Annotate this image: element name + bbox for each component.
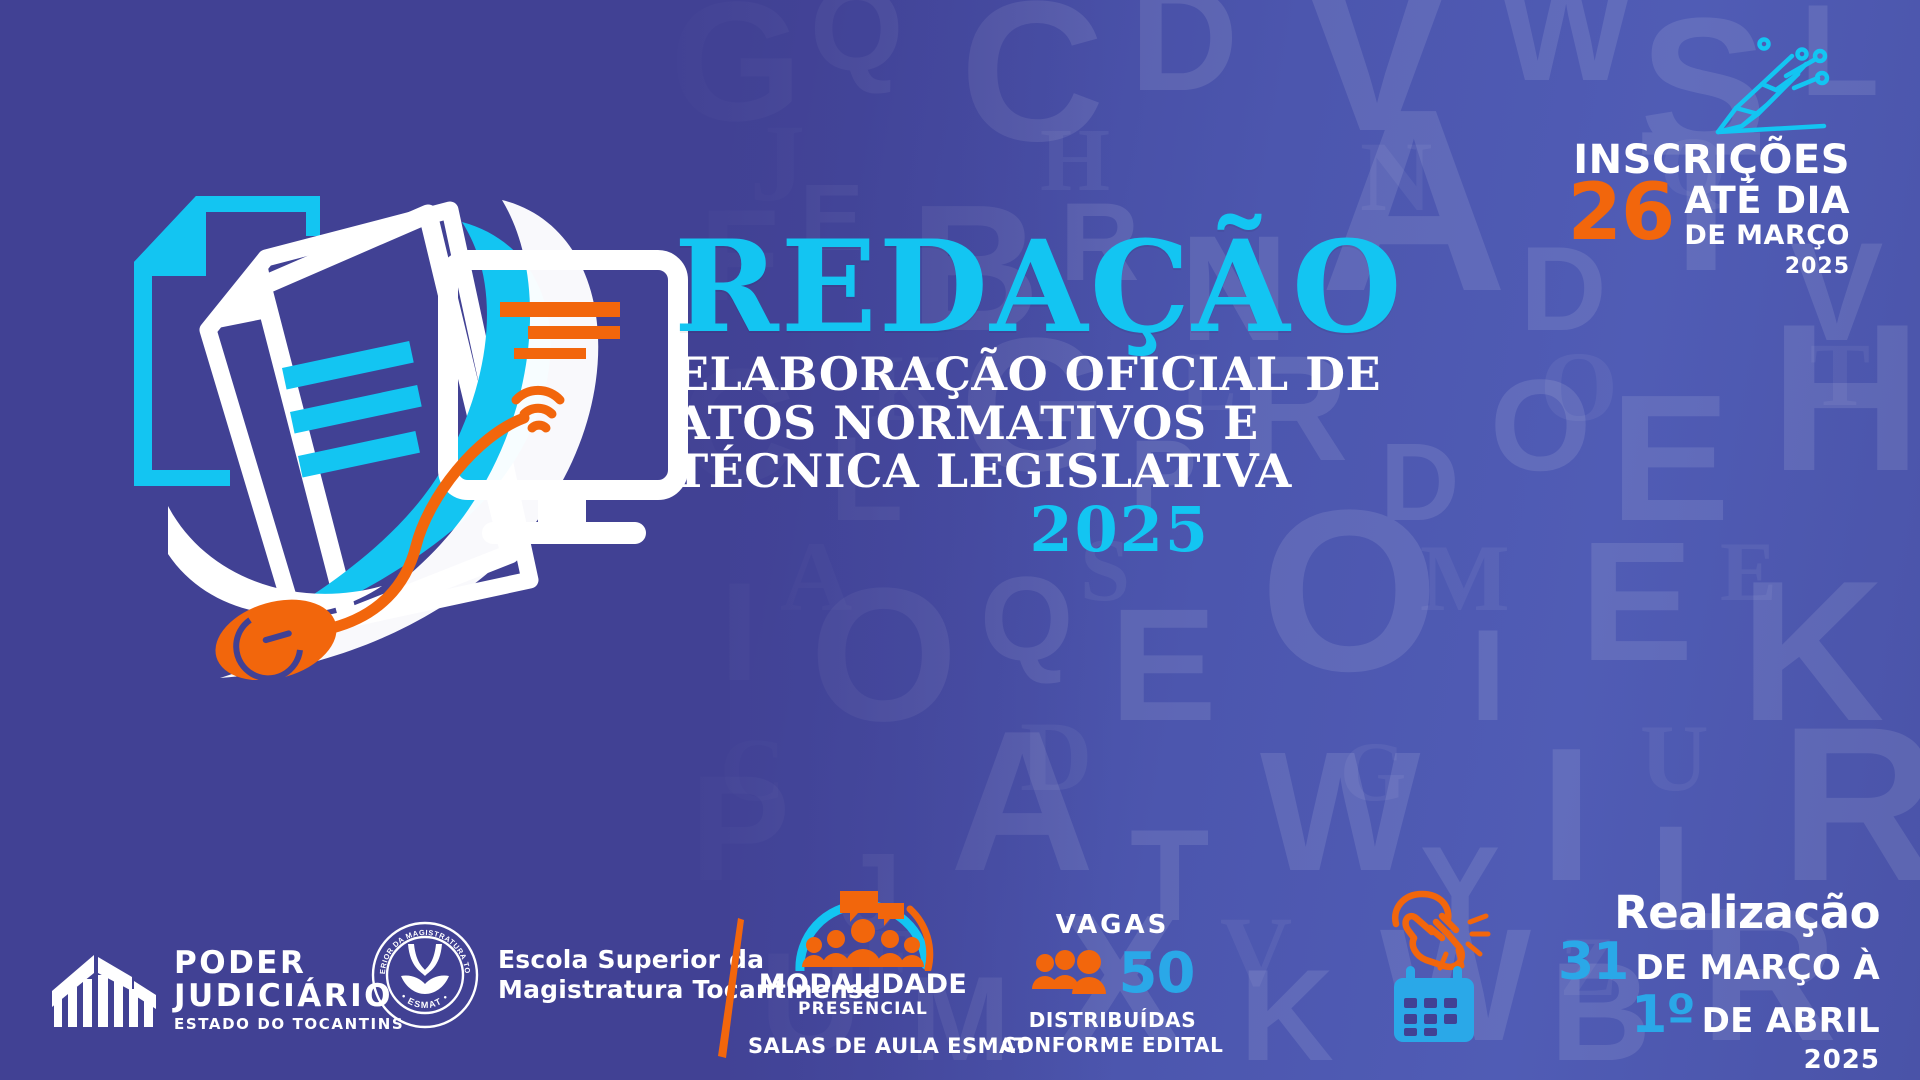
digital-pen-icon — [1706, 34, 1836, 144]
illustration-svg — [110, 150, 730, 680]
classroom-people-icon — [778, 879, 948, 971]
registration-year: 2025 — [1568, 256, 1850, 278]
cyan-document-icon — [134, 196, 320, 486]
seats-note: DISTRIBUÍDAS CONFORME EDITAL — [1000, 1008, 1225, 1058]
registration-date-row: 26 ATÉ DIA DE MARÇO — [1568, 182, 1850, 249]
speech-bubbles — [840, 891, 904, 926]
event-end-text: DE ABRIL — [1702, 1004, 1880, 1038]
svg-text:D: D — [1130, 0, 1238, 122]
event-start-text: DE MARÇO À — [1635, 951, 1880, 985]
svg-text:H: H — [1770, 280, 1920, 515]
event-dates-block: Realização 31 DE MARÇO À 1º DE ABRIL 202… — [1380, 890, 1880, 1060]
event-end-day: 1º — [1631, 989, 1695, 1041]
seats-count: 50 — [1119, 949, 1195, 999]
svg-text:E: E — [1610, 358, 1730, 559]
page-title: REDAÇÃO — [674, 230, 1220, 346]
svg-text:O: O — [1260, 462, 1439, 719]
registration-day: 26 — [1568, 182, 1675, 246]
svg-text:T: T — [1810, 326, 1870, 425]
documents-computer-illustration — [110, 150, 730, 680]
seats-heading: VAGAS — [1000, 912, 1225, 938]
event-start-row: 31 DE MARÇO À — [1510, 936, 1880, 988]
svg-text:O: O — [1490, 352, 1591, 498]
modality-line-1: MODALIDADE — [748, 971, 978, 998]
registration-date-text: ATÉ DIA DE MARÇO — [1684, 182, 1850, 249]
registration-month: DE MARÇO — [1684, 222, 1850, 249]
svg-text:C: C — [720, 721, 785, 820]
svg-text:C: C — [960, 0, 1104, 183]
esmat-seal-icon: ESCOLA SUPERIOR DA MAGISTRATURA TOCANTIN… — [370, 920, 480, 1030]
svg-text:M: M — [1420, 525, 1510, 631]
footer-bar: PODER JUDICIÁRIO ESTADO DO TOCANTINS ESC… — [0, 870, 1920, 1080]
title-year: 2025 — [660, 498, 1220, 562]
svg-text:H: H — [1040, 111, 1110, 210]
group-people-icon — [1031, 949, 1109, 999]
svg-text:Q: Q — [980, 552, 1073, 686]
modality-block: MODALIDADE PRESENCIAL SALAS DE AULA ESMA… — [748, 879, 978, 1058]
svg-text:O: O — [810, 549, 958, 761]
document-text-lines — [282, 341, 422, 478]
orange-slash-divider — [718, 918, 744, 1058]
seats-note-line-1: DISTRIBUÍDAS — [1000, 1008, 1225, 1033]
courthouse-building-icon — [50, 951, 158, 1029]
course-title-block: REDAÇÃO ELABORAÇÃO OFICIAL DE ATOS NORMA… — [660, 230, 1220, 563]
registration-until-label: ATÉ DIA — [1684, 182, 1850, 219]
svg-text:D: D — [1380, 421, 1459, 544]
modality-line-3: SALAS DE AULA ESMAT — [748, 1034, 978, 1058]
promo-banner: G Q C D V W S L F E B R N A D T V C L G — [0, 0, 1920, 1080]
svg-text:J: J — [750, 102, 805, 224]
svg-text:W: W — [1500, 0, 1632, 110]
modality-icon-wrap — [778, 879, 948, 971]
svg-text:I: I — [1470, 602, 1506, 748]
svg-text:V: V — [1300, 0, 1453, 179]
seats-count-row: 50 — [1000, 949, 1225, 999]
event-dates-text: Realização 31 DE MARÇO À 1º DE ABRIL 202… — [1510, 890, 1880, 1073]
subtitle-line-2: ATOS NORMATIVOS E — [674, 399, 1220, 448]
svg-text:U: U — [1640, 705, 1709, 811]
svg-text:E: E — [1580, 507, 1693, 697]
judiciary-logo-block: PODER JUDICIÁRIO ESTADO DO TOCANTINS — [50, 948, 404, 1032]
svg-text:E: E — [1110, 575, 1217, 754]
svg-text:O: O — [1540, 331, 1618, 442]
event-end-row: 1º DE ABRIL — [1510, 989, 1880, 1041]
event-year: 2025 — [1510, 1047, 1880, 1073]
svg-text:K: K — [1740, 540, 1884, 763]
registration-deadline-block: INSCRIÇÕES 26 ATÉ DIA DE MARÇO 2025 — [1568, 140, 1850, 278]
svg-text:E: E — [1720, 525, 1777, 619]
svg-text:D: D — [1020, 701, 1092, 812]
seats-block: VAGAS 50 DISTRIBUÍDAS CONFORME EDITAL — [1000, 912, 1225, 1058]
event-heading: Realização — [1510, 890, 1880, 935]
modality-line-2: PRESENCIAL — [748, 1001, 978, 1018]
click-hand-icon — [1386, 888, 1496, 974]
subtitle-line-3: TÉCNICA LEGISLATIVA — [674, 447, 1220, 496]
svg-text:G: G — [670, 0, 802, 157]
svg-text:G: G — [1340, 725, 1406, 819]
calendar-icon — [1388, 964, 1480, 1046]
subtitle-line-1: ELABORAÇÃO OFICIAL DE — [674, 350, 1220, 399]
event-start-day: 31 — [1558, 936, 1628, 988]
seats-note-line-2: CONFORME EDITAL — [1000, 1033, 1225, 1058]
svg-text:Q: Q — [810, 0, 903, 96]
